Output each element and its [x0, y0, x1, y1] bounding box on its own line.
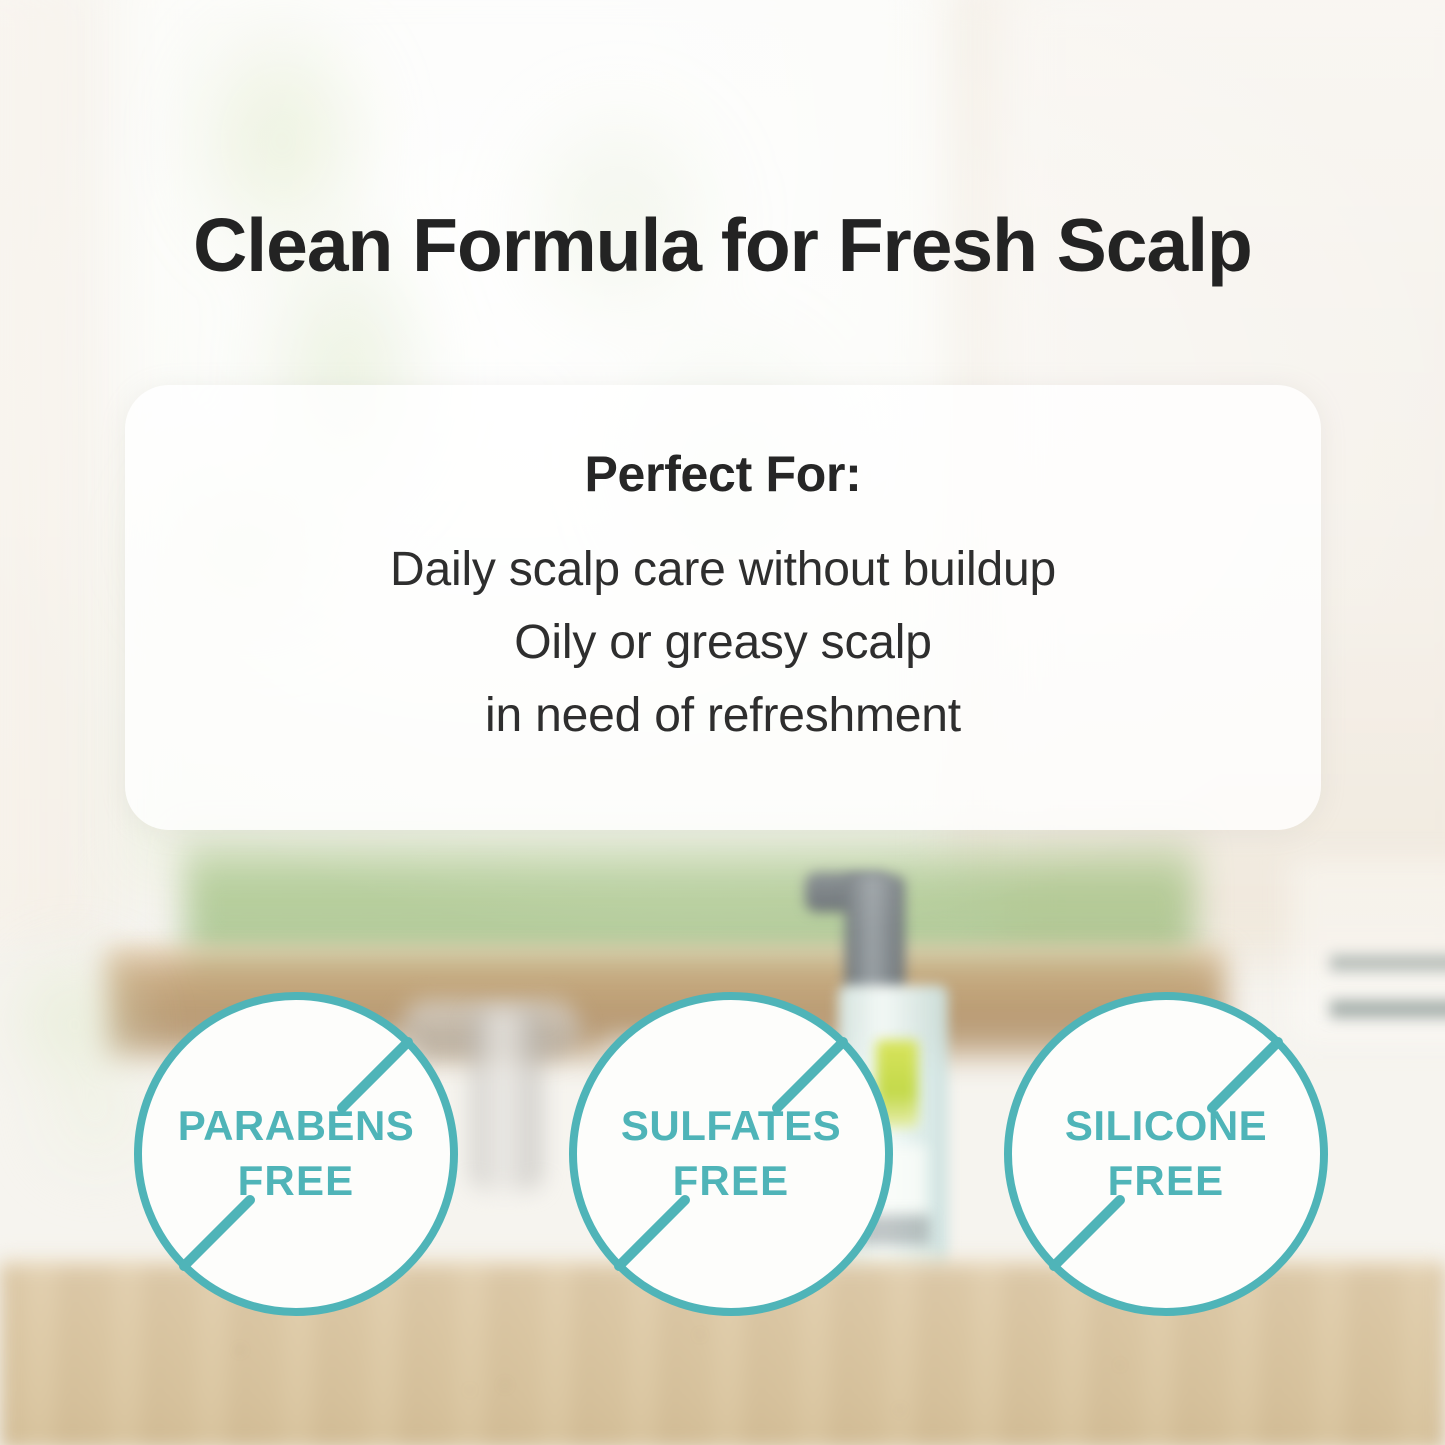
perfect-for-card: Perfect For: Daily scalp care without bu…	[125, 385, 1321, 830]
infographic-canvas: Clean Formula for Fresh Scalp Perfect Fo…	[0, 0, 1445, 1445]
badge-parabens-free: PARABENS FREE	[130, 988, 462, 1320]
page-title: Clean Formula for Fresh Scalp	[0, 205, 1445, 286]
card-content: Perfect For: Daily scalp care without bu…	[125, 385, 1321, 830]
badge-silicone-free: SILICONE FREE	[1000, 988, 1332, 1320]
no-silicone-icon	[1000, 988, 1332, 1320]
card-heading: Perfect For:	[584, 447, 861, 502]
card-line-3: in need of refreshment	[485, 680, 961, 753]
no-parabens-icon	[130, 988, 462, 1320]
free-from-badge-group: PARABENS FREE SULFATES FREE SILICONE	[0, 988, 1445, 1320]
card-line-2: Oily or greasy scalp	[514, 607, 931, 680]
badge-sulfates-free: SULFATES FREE	[565, 988, 897, 1320]
no-sulfates-icon	[565, 988, 897, 1320]
card-line-1: Daily scalp care without buildup	[390, 534, 1056, 607]
